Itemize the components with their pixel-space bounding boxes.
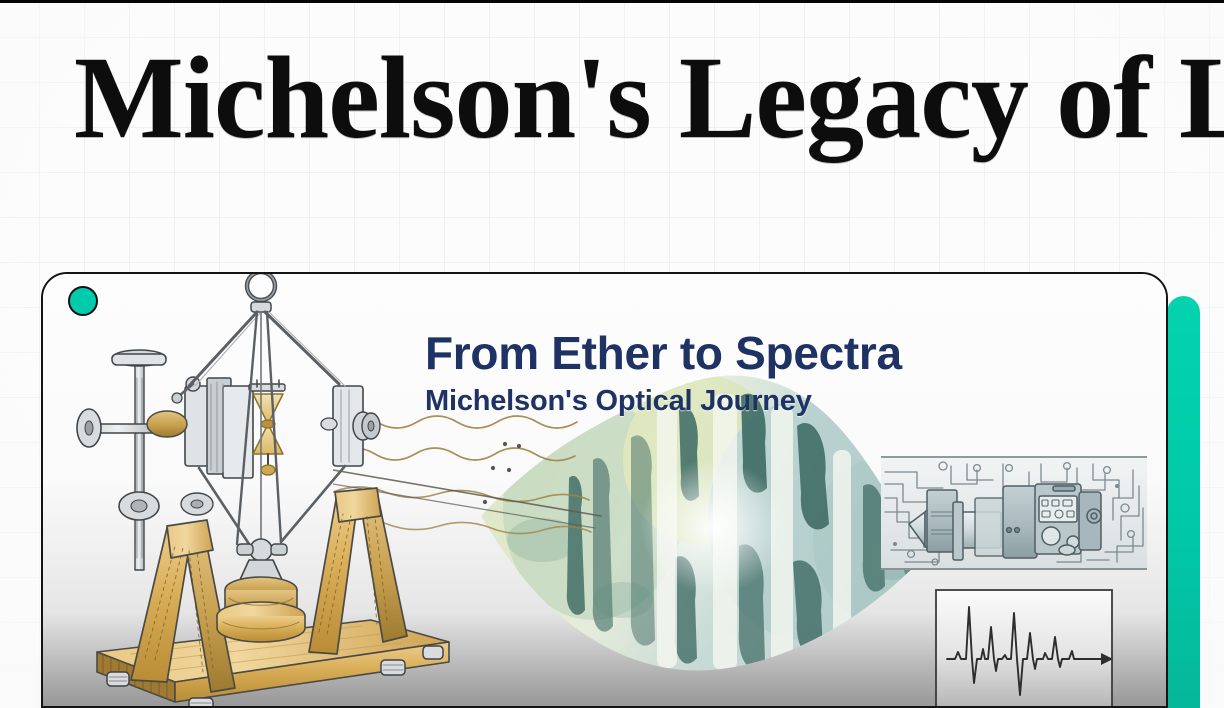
card-subtitle: Michelson's Optical Journey	[425, 385, 902, 418]
slide-stage: Michelson's Legacy of Light	[0, 0, 1224, 708]
spectrometer-on-circuit-board	[881, 450, 1147, 578]
slide-card[interactable]: From Ether to Spectra Michelson's Optica…	[41, 272, 1168, 708]
michelson-interferometer-illustration	[71, 272, 471, 708]
card-text-block: From Ether to Spectra Michelson's Optica…	[425, 329, 902, 418]
page-title: Michelson's Legacy of Light	[74, 38, 1148, 158]
card-title: From Ether to Spectra	[425, 329, 902, 379]
spectral-waveform-plot	[933, 587, 1115, 708]
top-letterbox-bar	[0, 0, 1224, 3]
teal-accent-bar	[1167, 296, 1200, 708]
teal-status-dot[interactable]	[68, 286, 98, 316]
